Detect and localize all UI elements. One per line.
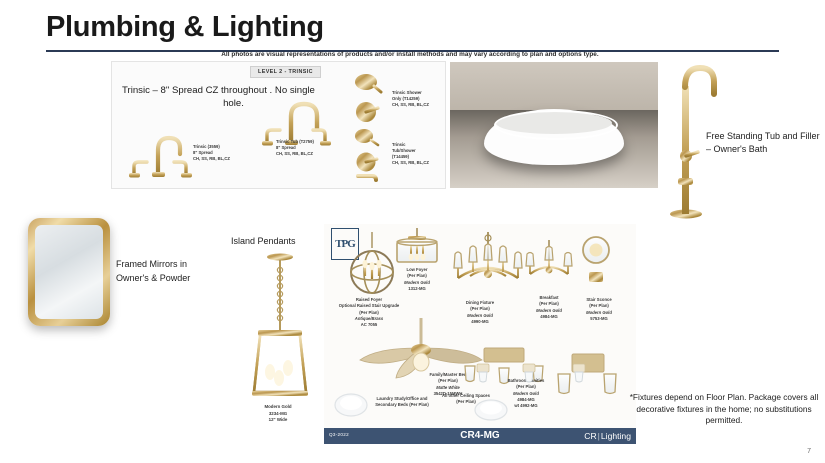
page-title: Plumbing & Lighting [46,12,324,44]
trinsic-note-line1: Trinsic – 8" Spread CZ throughout . No s… [122,85,315,96]
flushmount-disc-icon-left [334,392,368,418]
bottom-bar-brand: CR|Lighting [584,431,631,441]
brand-label: Lighting [601,431,631,441]
framed-mirror-graphic [28,218,110,326]
fixture-line2-6: Secondary Beds (Per Plan) [368,402,436,408]
fixture-caption-3: Breakfast (Per Plan) Modern Gold 4984-MG [523,295,575,320]
fixture-line2-0: Optional Raised Stair Upgrade [330,303,408,309]
trinsic-faucet-icon [120,128,198,180]
pendant-spec-code: 3234-MG [232,411,324,418]
freestanding-tub-photo [450,62,658,188]
freestanding-tub-caption: Free Standing Tub and Filler – Owner's B… [706,130,825,156]
fixture-caption-7: All other Ceiling Spaces (Per Plan) [436,393,496,406]
mirror-glass [35,225,103,319]
level-tag: LEVEL 2 - TRINSIC [250,66,321,78]
brand-initials: CR [584,431,596,441]
product-caption-2: Trinsic Shower Only (T14259) CH, SS, RB,… [392,90,429,108]
fixture-code-1: 1312-MG [390,286,444,292]
tub-photo-wall [450,62,658,110]
low-foyer-drum-icon [388,228,446,268]
fixture-code-3: 4984-MG [523,314,575,320]
brand-separator: | [597,431,601,441]
fixture-caption-6: Laundry Study/Office and Secondary Beds … [368,396,436,409]
fixture-caption-1: Low Foyer (Per Plan) Modern Gold 1312-MG [390,267,444,292]
product-caption-1: Trinsic Tub (T2759) 8" Spread CH, SS, RB… [276,139,314,157]
footnote-text: *Fixtures depend on Floor Plan. Package … [628,392,820,427]
pendant-lantern-icon [230,252,330,412]
product-finishes-0: CH, SS, RB, BL,CZ [193,156,230,162]
product-finishes-3: CH, SS, RB, BL,CZ [392,160,429,166]
pendant-spec-finish: Modern Gold [232,404,324,411]
island-pendant-graphic [230,252,330,412]
dining-chandelier-icon [448,232,528,300]
island-pendants-caption: Island Pendants [231,236,296,246]
pendant-spec: Modern Gold 3234-MG 12" Wide [232,404,324,424]
shower-trim-icons [348,70,392,180]
fixture-code-4: 5753-MG [574,316,624,322]
mirror-caption: Framed Mirrors in Owner's & Powder [116,258,208,285]
disclaimer-text: All photos are visual representations of… [195,51,625,58]
tub-rim [494,110,618,140]
pendant-spec-size: 12" Wide [232,417,324,424]
product-finishes-1: CH, SS, RB, BL,CZ [276,151,314,157]
sconce-small-icon-a [470,362,496,384]
fixture-code2-8: wt 4992-MG [495,403,557,409]
page-number: 7 [807,448,811,455]
fixture-plan-7: (Per Plan) [436,399,496,405]
sconce-small-icon-b [516,362,542,384]
product-finishes-2: CH, SS, RB, BL,CZ [392,102,429,108]
product-caption-0: Trinsic (3559) 8" Spread CH, SS, RB, BL,… [193,144,230,162]
stair-sconce-icon [572,232,620,288]
fixture-caption-4: Stair Sconce (Per Plan) Modern Gold 5753… [574,297,624,322]
lighting-bottom-bar: Q3-2022 CR4-MG CR|Lighting [324,428,636,444]
product-caption-3: Trinsic Tub/Shower (T14459) CH, SS, RB, … [392,142,429,166]
sconce-small-icon-c [566,362,592,384]
breakfast-chandelier-icon [522,240,576,292]
